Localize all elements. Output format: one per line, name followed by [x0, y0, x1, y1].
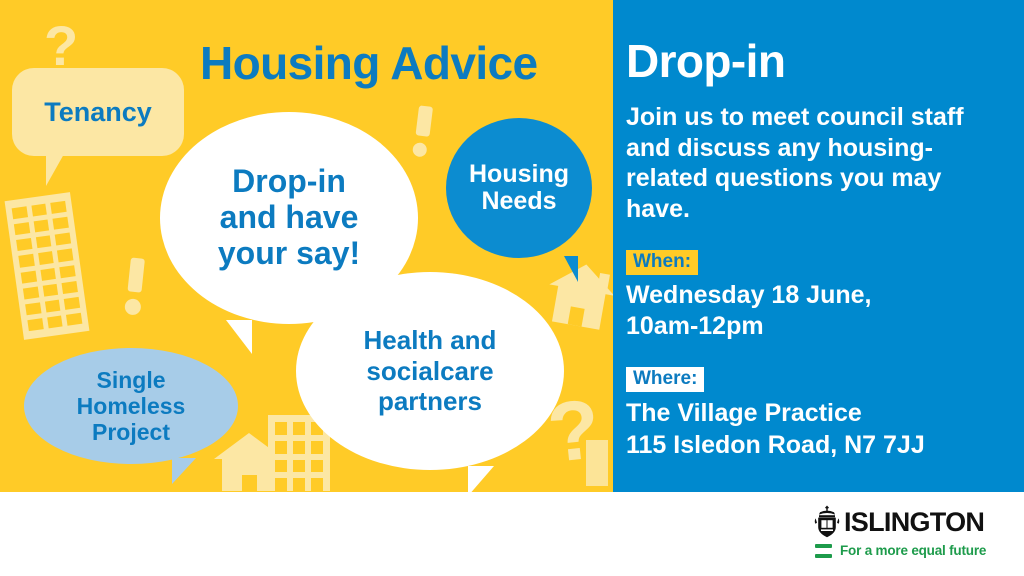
- when-label: When:: [626, 250, 698, 275]
- bubble-health-partners-label: Health and socialcare partners: [364, 325, 497, 417]
- bubble-shp-line2: Homeless: [77, 393, 186, 419]
- bubble-tail: [46, 154, 78, 186]
- speech-bubble-health-partners: Health and socialcare partners: [296, 272, 564, 470]
- bubble-housing-needs-line2: Needs: [469, 188, 569, 215]
- speech-bubble-single-homeless-project: Single Homeless Project: [24, 348, 238, 464]
- bubble-health-line1: Health and: [364, 325, 497, 356]
- bubble-tenancy-label: Tenancy: [44, 97, 152, 128]
- event-title: Drop-in: [626, 34, 785, 88]
- venue-name: The Village Practice: [626, 398, 1010, 428]
- logo-tagline: For a more equal future: [840, 544, 986, 558]
- bubble-shp-line3: Project: [77, 419, 186, 445]
- bubble-shp-label: Single Homeless Project: [77, 367, 186, 446]
- bubble-shp-line1: Single: [77, 367, 186, 393]
- bubble-tail: [172, 458, 206, 484]
- bubble-drop-in-line3: your say!: [218, 236, 360, 272]
- when-date: Wednesday 18 June,: [626, 280, 1010, 311]
- bubble-tail: [546, 256, 578, 282]
- bubble-health-line3: partners: [364, 386, 497, 417]
- speech-bubble-tenancy: Tenancy: [12, 68, 184, 156]
- bubble-health-line2: socialcare: [364, 356, 497, 387]
- page-title: Housing Advice: [200, 36, 538, 90]
- bubble-tail: [216, 320, 252, 354]
- bubble-drop-in-label: Drop-in and have your say!: [218, 164, 360, 271]
- speech-bubble-housing-needs: Housing Needs: [446, 118, 592, 258]
- islington-council-logo: ISLINGTON For a more equal future: [812, 505, 1002, 561]
- event-intro-text: Join us to meet council staff and discus…: [626, 102, 1010, 224]
- when-value: Wednesday 18 June, 10am-12pm: [626, 280, 1010, 343]
- bubble-drop-in-line2: and have: [218, 200, 360, 236]
- logo-wordmark: ISLINGTON: [844, 509, 984, 536]
- bubble-housing-needs-label: Housing Needs: [469, 161, 569, 215]
- venue-address: 115 Isledon Road, N7 7JJ: [626, 430, 1010, 460]
- islington-crest-icon: [812, 505, 842, 539]
- bubble-drop-in-line1: Drop-in: [218, 164, 360, 200]
- equals-icon: [815, 544, 832, 558]
- when-time: 10am-12pm: [626, 311, 1010, 342]
- where-label: Where:: [626, 367, 704, 392]
- bubble-housing-needs-line1: Housing: [469, 161, 569, 188]
- poster-canvas: ? ? Housing Advice Tenancy: [0, 0, 1024, 576]
